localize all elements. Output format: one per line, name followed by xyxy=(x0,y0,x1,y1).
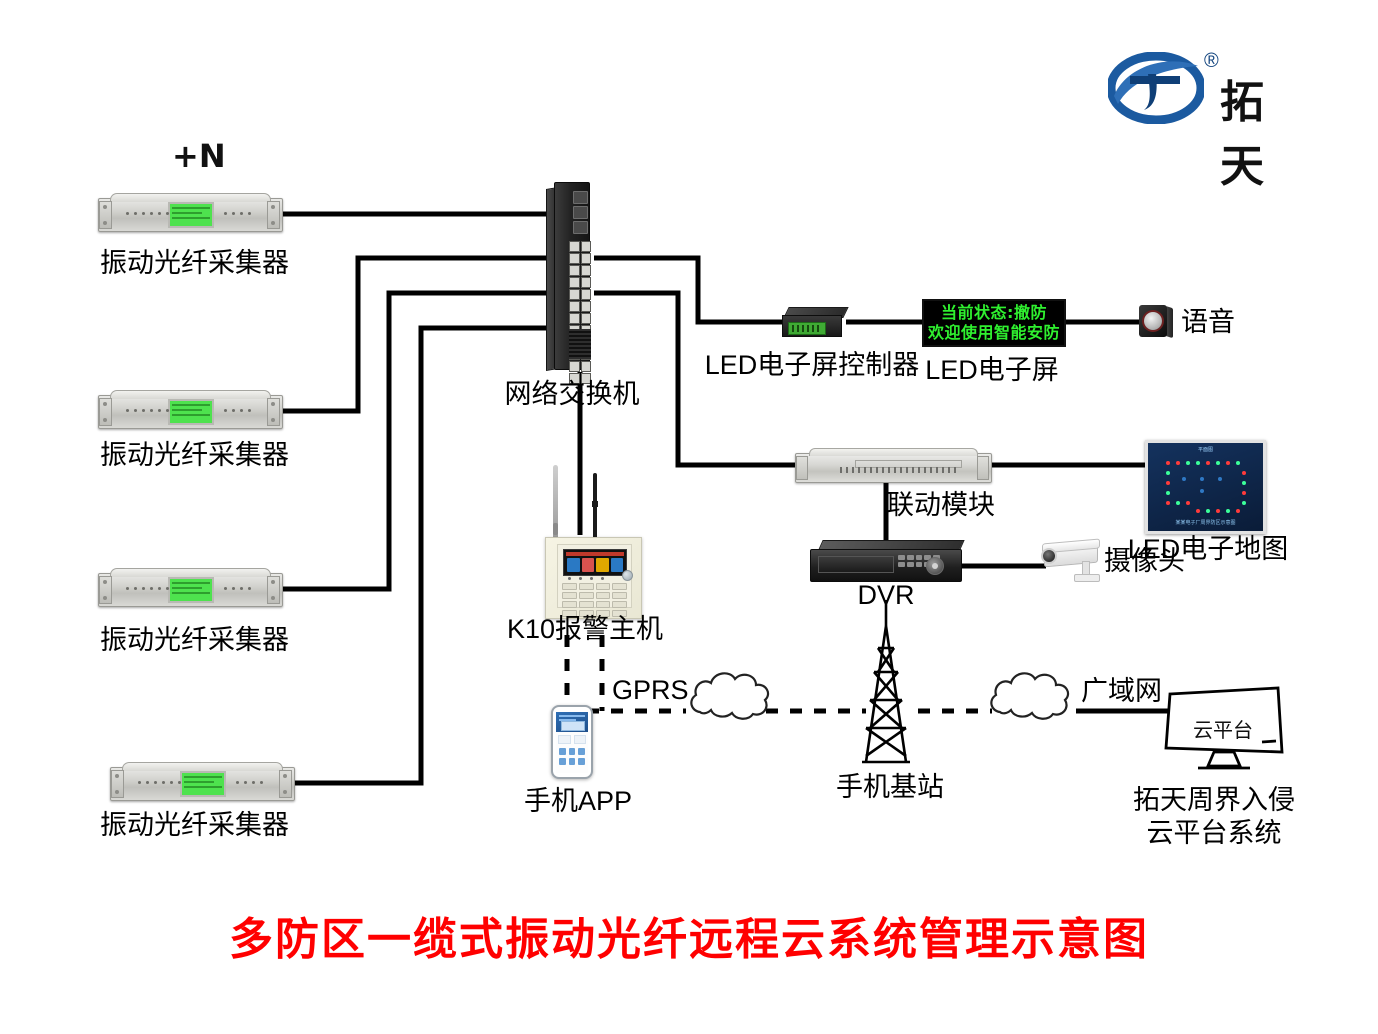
cell-tower-icon xyxy=(862,600,910,762)
antenna-icon xyxy=(593,473,597,541)
linkage-module xyxy=(795,447,990,483)
led-screen-line1: 当前状态:撤防 xyxy=(941,303,1047,323)
cloud-platform-label-line2: 云平台系统 xyxy=(1147,818,1282,849)
registered-mark: ® xyxy=(1204,50,1219,73)
led-display-screen: 当前状态:撤防 欢迎使用智能安防 xyxy=(922,299,1066,347)
collector-4-label: 振动光纤采集器 xyxy=(100,810,289,841)
dvr-label: DVR xyxy=(857,580,914,611)
link-switch-ledcontroller xyxy=(594,258,782,322)
network-switch-label: 网络交换机 xyxy=(505,379,640,410)
k10-host-label: K10报警主机 xyxy=(507,614,663,645)
diagram-title: 多防区一缆式振动光纤远程云系统管理示意图 xyxy=(229,903,1149,967)
led-map-footer: 某某电子厂周界防区示意图 xyxy=(1148,519,1263,526)
collector-4 xyxy=(110,759,293,807)
collector-1 xyxy=(98,190,281,238)
mobile-phone-app xyxy=(551,705,593,779)
cloud-platform-screen-text: 云平台 xyxy=(1168,714,1278,743)
led-electronic-map: 平面图 某某电子厂周界防区示意图 xyxy=(1145,440,1266,534)
linkage-module-label: 联动模块 xyxy=(887,490,995,521)
voice-speaker-icon xyxy=(1139,305,1173,339)
gprs-label: GPRS xyxy=(612,675,689,706)
brand-name: 拓天 xyxy=(1220,66,1298,194)
collector-3-label: 振动光纤采集器 xyxy=(100,625,289,656)
collector-2-label: 振动光纤采集器 xyxy=(100,440,289,471)
collector-lcd xyxy=(180,771,226,797)
led-controller-label: LED电子屏控制器 xyxy=(705,350,920,381)
voice-label: 语音 xyxy=(1181,307,1235,338)
security-camera-icon xyxy=(1040,541,1110,585)
k10-alarm-host xyxy=(545,465,640,590)
link-collector3-switch xyxy=(281,293,548,589)
collector-3 xyxy=(98,565,281,613)
brand-logo: ® 拓天 xyxy=(1108,48,1298,132)
collector-lcd xyxy=(168,399,214,425)
collector-lcd xyxy=(168,577,214,603)
dvr-device xyxy=(810,540,960,582)
cloud-platform-monitor: 云平台 xyxy=(1168,692,1278,764)
collector-1-label: 振动光纤采集器 xyxy=(100,248,289,279)
cloud-icon-right xyxy=(991,673,1068,718)
collector-2 xyxy=(98,387,281,435)
diagram-canvas: ® 拓天 +N 振动光纤采集器 振动光纤采集器 振动光纤采集器 xyxy=(0,0,1378,1034)
led-screen-label: LED电子屏 xyxy=(925,355,1059,386)
antenna-icon xyxy=(553,465,558,540)
led-screen-controller xyxy=(782,307,844,337)
collector-lcd xyxy=(168,202,214,228)
cloud-platform-label-line1: 拓天周界入侵 xyxy=(1133,785,1295,816)
network-switch xyxy=(546,182,594,368)
cloud-icon-left xyxy=(691,673,768,718)
led-map-header: 平面图 xyxy=(1148,446,1263,453)
phone-app-label: 手机APP xyxy=(524,786,632,817)
base-station-label: 手机基站 xyxy=(836,772,944,803)
camera-label: 摄像头 xyxy=(1104,546,1185,577)
led-screen-line2: 欢迎使用智能安防 xyxy=(928,323,1060,343)
wan-label: 广域网 xyxy=(1081,676,1162,707)
plus-n-label: +N xyxy=(172,137,226,175)
tuotian-logo-icon xyxy=(1108,52,1204,124)
